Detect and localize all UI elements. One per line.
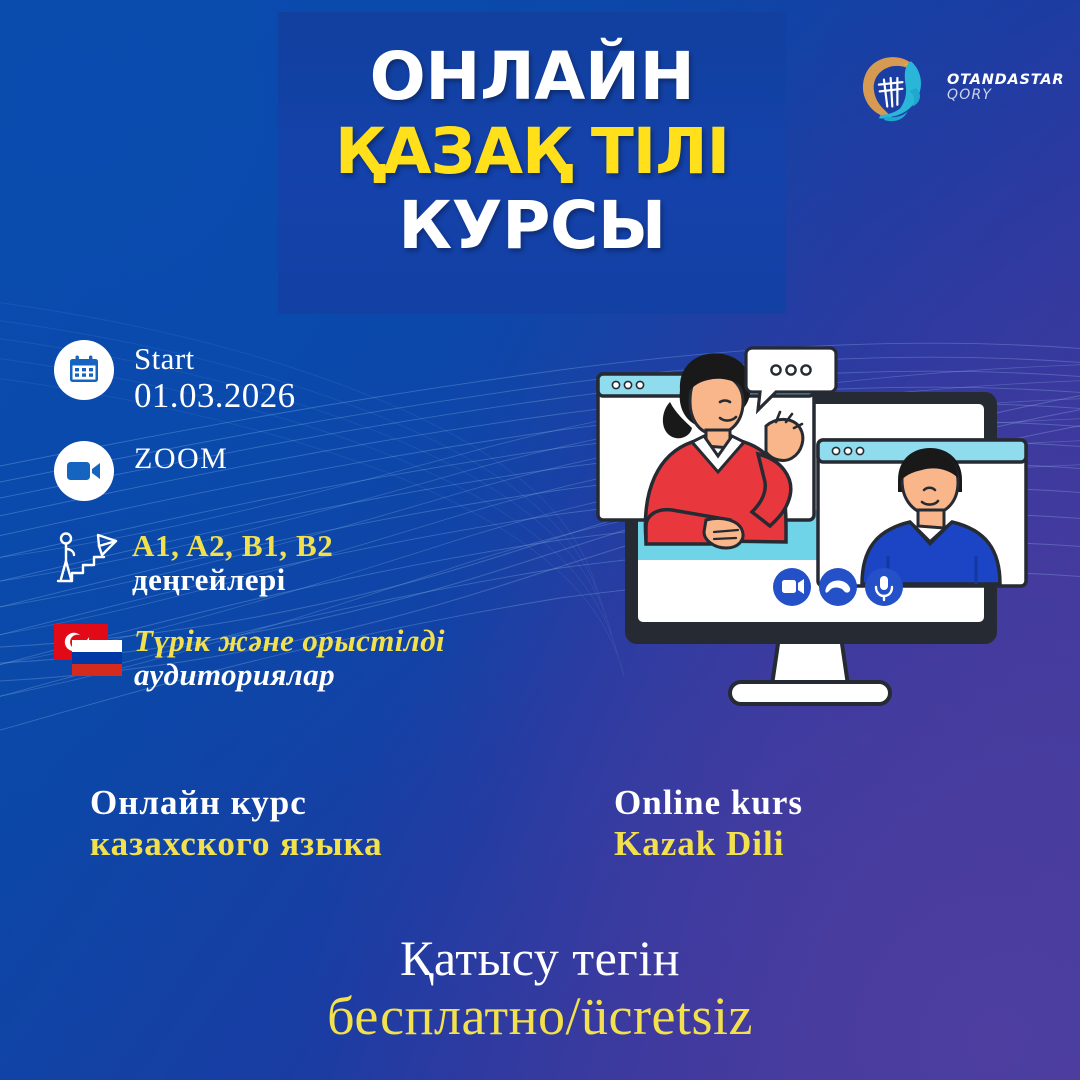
control-mic-button: [865, 568, 903, 606]
info-platform-label: ZOOM: [134, 443, 228, 475]
video-call-scene: [580, 330, 1040, 730]
info-levels-word: деңгейлері: [132, 563, 333, 596]
info-languages-secondary: аудиториялар: [134, 658, 445, 691]
footer-line-ru-tr: бесплатно/ücretsiz: [0, 986, 1080, 1046]
control-video-button: [773, 568, 811, 606]
person-climbing-stairs-icon: [54, 529, 122, 587]
footer-free-notice: Қатысу тегін бесплатно/ücretsiz: [0, 930, 1080, 1046]
caption-russian-line2: казахского языка: [90, 823, 383, 864]
levels-icon-wrap: [54, 527, 124, 589]
info-languages-primary: Түрік және орыстілді: [134, 624, 445, 657]
info-levels-list: A1, A2, B1, B2: [132, 529, 333, 562]
title-line-3: КУРСЫ: [278, 195, 786, 257]
otandastar-emblem-icon: [852, 46, 936, 130]
info-start-date: 01.03.2026: [134, 377, 296, 415]
caption-russian-line1: Онлайн курс: [90, 782, 383, 823]
caption-turkish-line1: Online kurs: [614, 782, 803, 823]
footer-line-kazakh: Қатысу тегін: [0, 930, 1080, 986]
video-camera-icon-badge: [54, 441, 114, 501]
caption-russian: Онлайн курс казахского языка: [90, 782, 383, 865]
logo-subtitle: QORY: [947, 88, 1064, 104]
control-hangup-button: [819, 568, 857, 606]
russian-flag-icon: [72, 640, 122, 676]
title-line-1: ОНЛАЙН: [278, 46, 786, 108]
logo-name: OTANDASTAR: [947, 72, 1064, 88]
info-row-start-date: Start 01.03.2026: [54, 340, 534, 415]
info-row-languages: Түрік және орыстілді аудиториялар: [54, 622, 534, 691]
info-row-platform: ZOOM: [54, 441, 534, 501]
title-line-2: ҚАЗАҚ ТІЛІ: [278, 122, 786, 181]
title-banner: ОНЛАЙН ҚАЗАҚ ТІЛІ КУРСЫ: [278, 12, 786, 314]
otandastar-qory-logo: OTANDASTAR QORY: [852, 46, 1064, 130]
turkish-russian-flags-icon: [54, 622, 122, 684]
calendar-icon-badge: [54, 340, 114, 400]
window-right: [818, 440, 1026, 586]
video-call-illustration: [580, 330, 1040, 730]
course-info-list: Start 01.03.2026 ZOOM: [54, 340, 534, 717]
caption-turkish-line2: Kazak Dili: [614, 823, 803, 864]
calendar-icon: [67, 353, 101, 387]
info-start-label: Start: [134, 342, 296, 375]
info-row-levels: A1, A2, B1, B2 деңгейлері: [54, 527, 534, 596]
call-controls: [773, 568, 903, 606]
video-camera-icon: [66, 458, 102, 484]
caption-turkish: Online kurs Kazak Dili: [614, 782, 803, 865]
